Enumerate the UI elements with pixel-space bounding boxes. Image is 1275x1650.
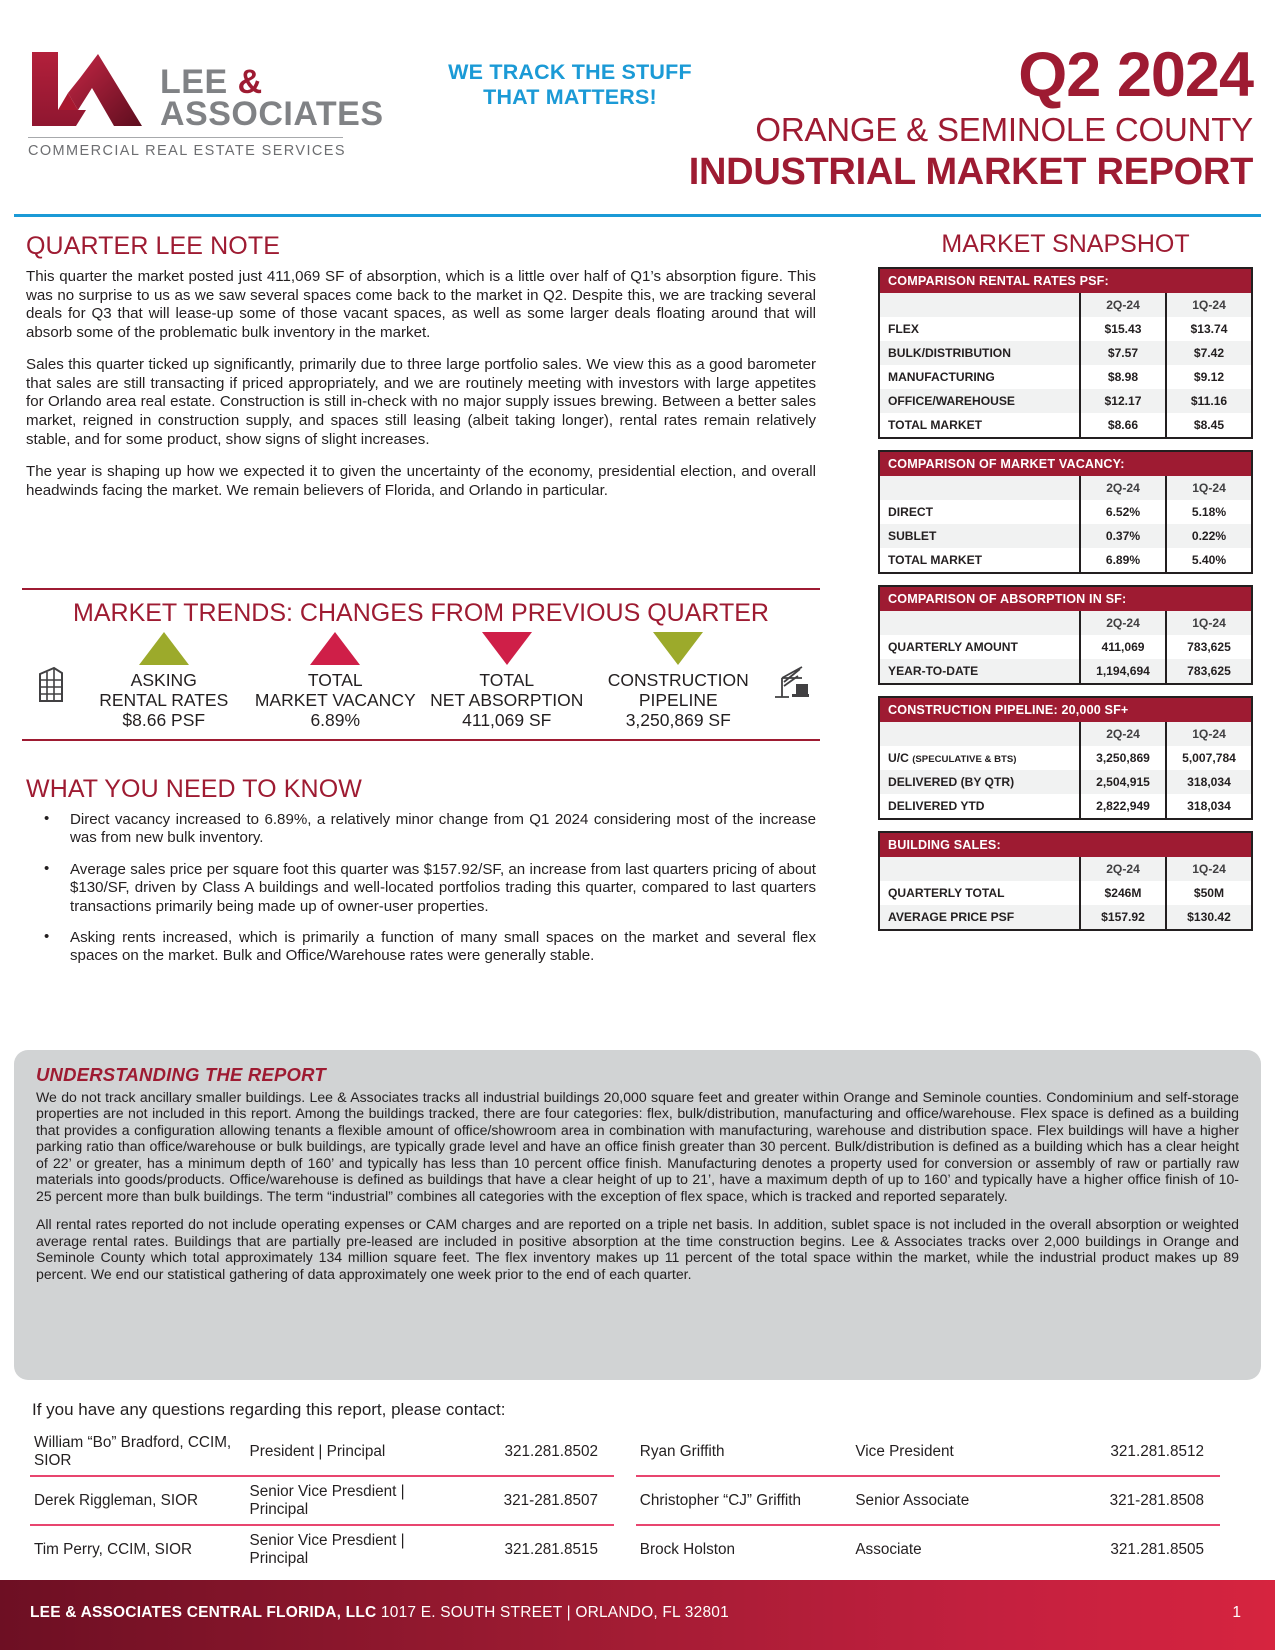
contact-phone[interactable]: 321.281.8505 [1071,1525,1220,1573]
table-row: YEAR-TO-DATE1,194,694783,625 [879,659,1252,684]
row-value-current: $8.66 [1080,413,1166,438]
table-row: BULK/DISTRIBUTION$7.57$7.42 [879,341,1252,365]
row-label: QUARTERLY AMOUNT [879,635,1080,659]
lee-logo-mark [28,48,146,130]
row-label: MANUFACTURING [879,365,1080,389]
table-row: TOTAL MARKET$8.66$8.45 [879,413,1252,438]
trend-label-line1: ASKING [78,671,250,691]
row-label: SUBLET [879,524,1080,548]
table-row: SUBLET0.37%0.22% [879,524,1252,548]
row-value-current: 2,504,915 [1080,770,1166,794]
understanding-paragraph: We do not track ancillary smaller buildi… [36,1089,1239,1204]
quarter-note-paragraph: The year is shaping up how we expected i… [26,463,816,500]
arrow-down-icon [482,632,532,665]
row-value-current: 0.37% [1080,524,1166,548]
table-row: AVERAGE PRICE PSF$157.92$130.42 [879,905,1252,930]
market-snapshot-section: MARKET SNAPSHOT COMPARISON RENTAL RATES … [878,230,1253,942]
table-title: CONSTRUCTION PIPELINE: 20,000 SF+ [879,697,1252,722]
table-title: COMPARISON OF ABSORPTION IN SF: [879,586,1252,611]
table-row: DELIVERED (BY QTR)2,504,915318,034 [879,770,1252,794]
table-comparison-rental-rates: COMPARISON RENTAL RATES PSF: 2Q-24 1Q-24… [878,267,1253,439]
row-label: AVERAGE PRICE PSF [879,905,1080,930]
row-value-prior: $8.45 [1166,413,1252,438]
table-title: COMPARISON RENTAL RATES PSF: [879,268,1252,293]
table-row: U/C (SPECULATIVE & BTS) 3,250,869 5,007,… [879,746,1252,770]
table-row: William “Bo” Bradford, CCIM, SIOR Presid… [30,1428,1220,1476]
col-header-prior: 1Q-24 [1166,722,1252,746]
trend-label-line2: RENTAL RATES [78,691,250,711]
row-label: TOTAL MARKET [879,413,1080,438]
contacts-lead-text: If you have any questions regarding this… [32,1400,1220,1420]
trend-label-line2: MARKET VACANCY [250,691,422,711]
quarter-lee-note-heading: QUARTER LEE NOTE [26,232,816,261]
row-label: DIRECT [879,500,1080,524]
market-trends-section: MARKET TRENDS: CHANGES FROM PREVIOUS QUA… [22,588,820,741]
row-value-prior: $7.42 [1166,341,1252,365]
row-value-prior: 5.40% [1166,548,1252,573]
table-column-headers: 2Q-24 1Q-24 [879,476,1252,500]
contact-title: Senior Vice Presdient | Principal [246,1525,465,1573]
logo-associates-text: ASSOCIATES [160,99,384,130]
contacts-table: William “Bo” Bradford, CCIM, SIOR Presid… [30,1428,1220,1573]
understanding-heading: UNDERSTANDING THE REPORT [36,1064,1239,1086]
trend-label-line2: PIPELINE [593,691,765,711]
row-value-prior: $11.16 [1166,389,1252,413]
table-column-headers: 2Q-24 1Q-24 [879,857,1252,881]
column-gap [614,1428,636,1476]
col-header-current: 2Q-24 [1080,857,1166,881]
row-label: U/C [888,751,909,765]
row-value-current: $246M [1080,881,1166,905]
row-value-prior: 5,007,784 [1166,746,1252,770]
trend-value: $8.66 PSF [78,711,250,731]
row-value-current: $8.98 [1080,365,1166,389]
contact-phone[interactable]: 321-281.8508 [1071,1476,1220,1525]
table-row: QUARTERLY TOTAL$246M$50M [879,881,1252,905]
trend-label-line1: CONSTRUCTION [593,671,765,691]
trend-construction-pipeline: CONSTRUCTION PIPELINE 3,250,869 SF [593,630,765,731]
page-number: 1 [1232,1604,1241,1622]
market-snapshot-title: MARKET SNAPSHOT [878,230,1253,259]
header-divider [14,214,1261,217]
market-trends-title: MARKET TRENDS: CHANGES FROM PREVIOUS QUA… [22,599,820,628]
col-header-prior: 1Q-24 [1166,476,1252,500]
contact-phone[interactable]: 321.281.8512 [1071,1428,1220,1476]
row-label: QUARTERLY TOTAL [879,881,1080,905]
table-row: DELIVERED YTD2,822,949318,034 [879,794,1252,819]
row-label: OFFICE/WAREHOUSE [879,389,1080,413]
table-row: FLEX$15.43$13.74 [879,317,1252,341]
trend-value: 411,069 SF [421,711,593,731]
col-header-current: 2Q-24 [1080,476,1166,500]
tagline-line-1: WE TRACK THE STUFF [420,60,720,85]
quarter-note-paragraph: Sales this quarter ticked up significant… [26,356,816,449]
contact-name: Derek Riggleman, SIOR [30,1476,246,1525]
table-column-headers: 2Q-24 1Q-24 [879,611,1252,635]
table-title: COMPARISON OF MARKET VACANCY: [879,451,1252,476]
trend-total-market-vacancy: TOTAL MARKET VACANCY 6.89% [250,630,422,731]
page-title: INDUSTRIAL MARKET REPORT [689,153,1253,191]
arrow-up-icon [139,632,189,665]
table-row: OFFICE/WAREHOUSE$12.17$11.16 [879,389,1252,413]
tagline: WE TRACK THE STUFF THAT MATTERS! [420,60,720,110]
col-header-current: 2Q-24 [1080,293,1166,317]
row-value-current: 1,194,694 [1080,659,1166,684]
col-header-prior: 1Q-24 [1166,857,1252,881]
table-row: TOTAL MARKET6.89%5.40% [879,548,1252,573]
contact-phone[interactable]: 321-281.8507 [465,1476,614,1525]
row-label: YEAR-TO-DATE [879,659,1080,684]
contact-phone[interactable]: 321.281.8515 [465,1525,614,1573]
trend-value: 6.89% [250,711,422,731]
row-value-current: $12.17 [1080,389,1166,413]
trend-label-line1: TOTAL [250,671,422,691]
footer-address: 1017 E. SOUTH STREET | ORLANDO, FL 32801 [381,1604,729,1621]
trend-label-line2: NET ABSORPTION [421,691,593,711]
row-label: DELIVERED YTD [879,794,1080,819]
row-value-prior: $9.12 [1166,365,1252,389]
row-value-prior: 5.18% [1166,500,1252,524]
row-label-qualifier: (SPECULATIVE & BTS) [912,754,1016,765]
wynk-bullet: Average sales price per square foot this… [26,861,816,916]
row-label: FLEX [879,317,1080,341]
contact-name: Tim Perry, CCIM, SIOR [30,1525,246,1573]
contact-title: Senior Associate [851,1476,1070,1525]
quarter-note-paragraph: This quarter the market posted just 411,… [26,268,816,342]
table-row: QUARTERLY AMOUNT411,069783,625 [879,635,1252,659]
table-column-headers: 2Q-24 1Q-24 [879,722,1252,746]
column-gap [614,1476,636,1525]
trend-total-net-absorption: TOTAL NET ABSORPTION 411,069 SF [421,630,593,731]
wynk-bullet: Direct vacancy increased to 6.89%, a rel… [26,811,816,848]
contact-name: Christopher “CJ” Griffith [636,1476,852,1525]
page-header: LEE & ASSOCIATES COMMERCIAL REAL ESTATE … [0,0,1275,218]
contact-name: Brock Holston [636,1525,852,1573]
wynk-heading: WHAT YOU NEED TO KNOW [26,775,816,804]
table-building-sales: BUILDING SALES: 2Q-24 1Q-24 QUARTERLY TO… [878,831,1253,931]
report-identity: Q2 2024 ORANGE & SEMINOLE COUNTY INDUSTR… [689,44,1253,191]
logo-subtitle: COMMERCIAL REAL ESTATE SERVICES [28,143,358,159]
trends-bottom-rule [22,739,820,741]
tagline-line-2: THAT MATTERS! [420,85,720,110]
quarter-lee-note-section: QUARTER LEE NOTE This quarter the market… [26,232,816,514]
row-label: DELIVERED (BY QTR) [879,770,1080,794]
row-value-current: 411,069 [1080,635,1166,659]
wynk-bullet: Asking rents increased, which is primari… [26,929,816,966]
row-value-current: 6.89% [1080,548,1166,573]
table-construction-pipeline: CONSTRUCTION PIPELINE: 20,000 SF+ 2Q-24 … [878,696,1253,820]
footer-company: LEE & ASSOCIATES CENTRAL FLORIDA, LLC [30,1604,376,1621]
contact-title: President | Principal [246,1428,465,1476]
row-value-prior: 318,034 [1166,794,1252,819]
contact-title: Vice President [851,1428,1070,1476]
crane-icon [764,630,818,700]
page-footer: LEE & ASSOCIATES CENTRAL FLORIDA, LLC 10… [0,1580,1275,1650]
report-page: LEE & ASSOCIATES COMMERCIAL REAL ESTATE … [0,0,1275,1650]
what-you-need-to-know-section: WHAT YOU NEED TO KNOW Direct vacancy inc… [26,775,816,979]
table-row: Derek Riggleman, SIOR Senior Vice Presdi… [30,1476,1220,1525]
row-value-prior: 318,034 [1166,770,1252,794]
trend-label-line1: TOTAL [421,671,593,691]
understanding-paragraph: All rental rates reported do not include… [36,1216,1239,1282]
col-header-current: 2Q-24 [1080,722,1166,746]
table-row: DIRECT6.52%5.18% [879,500,1252,524]
row-value-current: $15.43 [1080,317,1166,341]
table-title: BUILDING SALES: [879,832,1252,857]
table-row: Tim Perry, CCIM, SIOR Senior Vice Presdi… [30,1525,1220,1573]
logo-divider [28,137,343,138]
trend-value: 3,250,869 SF [593,711,765,731]
lee-associates-logo: LEE & ASSOCIATES COMMERCIAL REAL ESTATE … [28,48,358,159]
row-value-prior: 783,625 [1166,635,1252,659]
table-column-headers: 2Q-24 1Q-24 [879,293,1252,317]
understanding-the-report-box: UNDERSTANDING THE REPORT We do not track… [14,1050,1261,1380]
row-value-prior: $13.74 [1166,317,1252,341]
table-row: MANUFACTURING$8.98$9.12 [879,365,1252,389]
row-value-prior: 783,625 [1166,659,1252,684]
col-header-current: 2Q-24 [1080,611,1166,635]
row-value-current: 2,822,949 [1080,794,1166,819]
arrow-up-icon [310,632,360,665]
contact-name: William “Bo” Bradford, CCIM, SIOR [30,1428,246,1476]
row-value-current: 6.52% [1080,500,1166,524]
row-label: BULK/DISTRIBUTION [879,341,1080,365]
col-header-prior: 1Q-24 [1166,611,1252,635]
row-value-prior: $50M [1166,881,1252,905]
table-comparison-market-vacancy: COMPARISON OF MARKET VACANCY: 2Q-24 1Q-2… [878,450,1253,574]
row-value-current: $7.57 [1080,341,1166,365]
row-value-current: $157.92 [1080,905,1166,930]
trend-asking-rental-rates: ASKING RENTAL RATES $8.66 PSF [78,630,250,731]
report-quarter: Q2 2024 [689,44,1253,107]
row-value-prior: $130.42 [1166,905,1252,930]
trends-top-rule [22,588,820,590]
row-value-prior: 0.22% [1166,524,1252,548]
arrow-down-icon [653,632,703,665]
contact-phone[interactable]: 321.281.8502 [465,1428,614,1476]
col-header-prior: 1Q-24 [1166,293,1252,317]
report-county: ORANGE & SEMINOLE COUNTY [689,113,1253,146]
row-value-current: 3,250,869 [1080,746,1166,770]
contact-title: Senior Vice Presdient | Principal [246,1476,465,1525]
table-comparison-absorption: COMPARISON OF ABSORPTION IN SF: 2Q-24 1Q… [878,585,1253,685]
contacts-section: If you have any questions regarding this… [30,1400,1220,1573]
row-label: TOTAL MARKET [879,548,1080,573]
contact-name: Ryan Griffith [636,1428,852,1476]
building-icon [24,630,78,704]
contact-title: Associate [851,1525,1070,1573]
column-gap [614,1525,636,1573]
